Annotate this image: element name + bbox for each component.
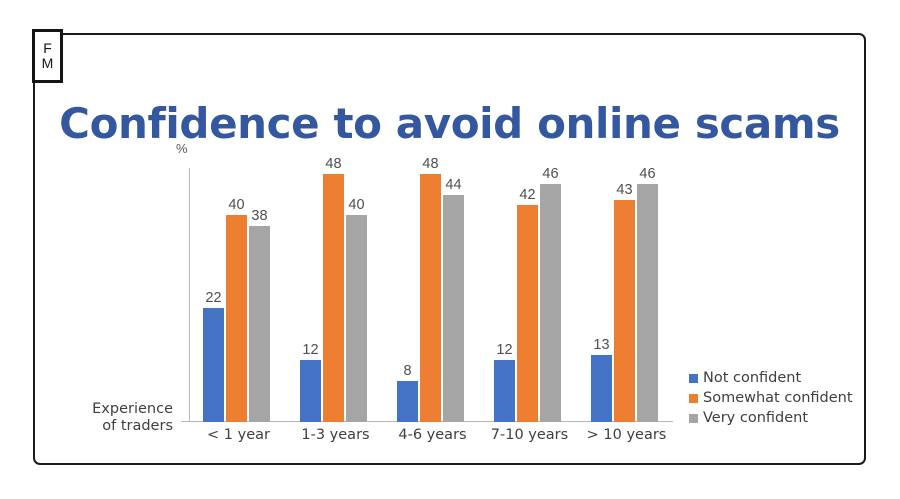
chart-plot-area: % Experience of traders 224038< 1 year12… (35, 35, 868, 467)
bar-groups-container: 224038< 1 year1248401-3 years848444-6 ye… (190, 135, 676, 422)
x-axis-caption: Experience of traders (53, 401, 173, 435)
logo-letter-m: M (42, 56, 54, 71)
bar-group: 1248401-3 years (287, 135, 384, 422)
bar-not-confident[interactable] (494, 360, 515, 422)
legend-swatch-icon (689, 414, 698, 423)
legend-label: Somewhat confident (703, 390, 853, 406)
x-axis-tick-label: > 10 years (570, 427, 683, 443)
bar-not-confident[interactable] (397, 381, 418, 422)
bar-value-label: 46 (531, 166, 570, 182)
legend-item[interactable]: Somewhat confident (689, 388, 853, 408)
bar-value-label: 38 (240, 208, 279, 224)
bar-not-confident[interactable] (203, 308, 224, 422)
slide-frame: Confidence to avoid online scams % Exper… (33, 33, 866, 465)
legend-item[interactable]: Not confident (689, 368, 853, 388)
bar-very-confident[interactable] (637, 184, 658, 422)
legend-swatch-icon (689, 394, 698, 403)
bar-somewhat-confident[interactable] (226, 215, 247, 422)
bar-value-label: 44 (434, 177, 473, 193)
bar-group: 224038< 1 year (190, 135, 287, 422)
bar-somewhat-confident[interactable] (614, 200, 635, 422)
bar-very-confident[interactable] (443, 195, 464, 422)
legend-item[interactable]: Very confident (689, 408, 853, 428)
bar-group: 1242467-10 years (481, 135, 578, 422)
bar-value-label: 46 (628, 166, 667, 182)
legend-label: Not confident (703, 370, 801, 386)
chart-legend: Not confidentSomewhat confidentVery conf… (689, 368, 853, 428)
bar-group: 134346> 10 years (578, 135, 675, 422)
bar-value-label: 48 (411, 156, 450, 172)
y-axis-unit-label: % (176, 141, 188, 156)
legend-label: Very confident (703, 410, 808, 426)
bar-not-confident[interactable] (591, 355, 612, 422)
logo-letter-f: F (43, 41, 52, 56)
bar-value-label: 40 (337, 197, 376, 213)
bar-very-confident[interactable] (249, 226, 270, 422)
bar-very-confident[interactable] (346, 215, 367, 422)
x-axis-caption-line-2: of traders (53, 418, 173, 435)
bar-not-confident[interactable] (300, 360, 321, 422)
bar-somewhat-confident[interactable] (517, 205, 538, 422)
bar-value-label: 48 (314, 156, 353, 172)
x-axis-caption-line-1: Experience (53, 401, 173, 418)
bar-very-confident[interactable] (540, 184, 561, 422)
bar-somewhat-confident[interactable] (420, 174, 441, 422)
legend-swatch-icon (689, 374, 698, 383)
bar-group: 848444-6 years (384, 135, 481, 422)
fm-logo-badge: F M (32, 29, 63, 83)
